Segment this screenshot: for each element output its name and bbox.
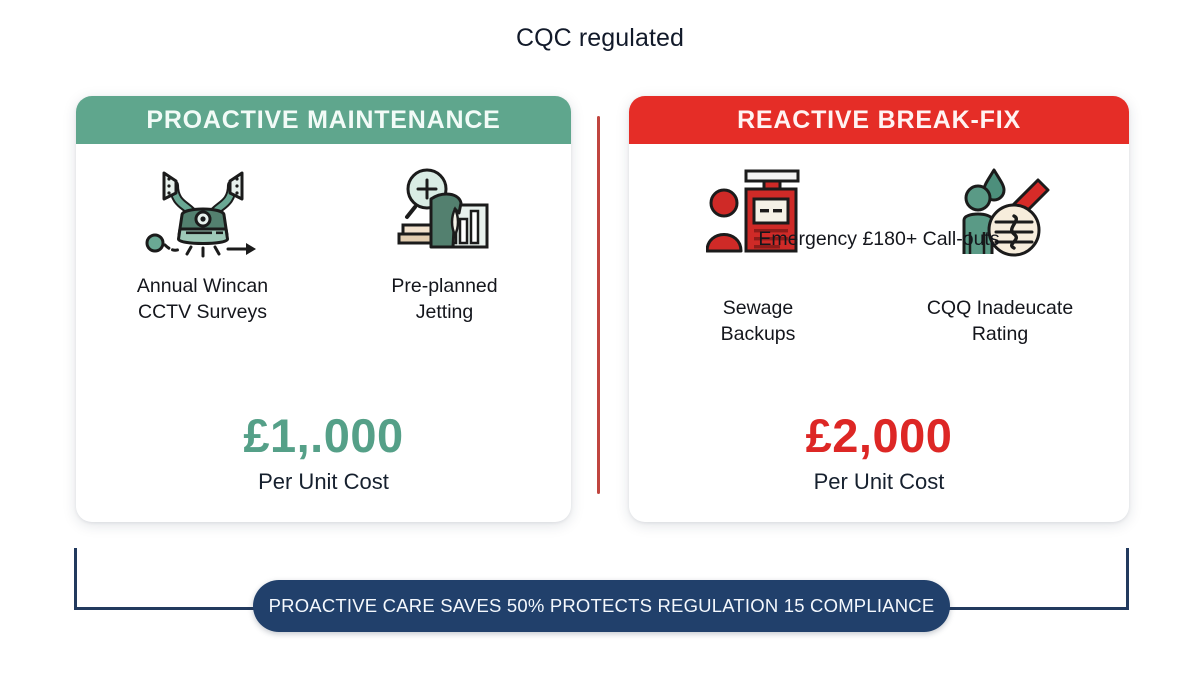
vertical-divider [597,116,600,494]
card-body-proactive: Annual Wincan CCTV Surveys [76,144,571,522]
feature-cqq-inadequate-rating: CQQ Inadeucate Rating [902,162,1098,347]
price-reactive: £2,000 [629,412,1129,459]
feature-sewage-backups: Sewage Backups [660,162,856,347]
feature-label-cqq-inadequate-rating: CQQ Inadeucate Rating [927,296,1073,347]
feature-label-annual-wincan-cctv-surveys: Annual Wincan CCTV Surveys [137,274,268,325]
page-title: CQC regulated [0,24,1200,53]
feature-annual-wincan-cctv-surveys: Annual Wincan CCTV Surveys [105,162,301,325]
feature-row-proactive: Annual Wincan CCTV Surveys [76,144,571,325]
sewage-backup-person-icon [706,162,810,260]
price-block-reactive: £2,000 Per Unit Cost [629,412,1129,495]
price-proactive: £1,.000 [76,412,571,459]
summary-banner: PROACTIVE CARE SAVES 50% PROTECTS REGULA… [253,580,950,632]
summary-banner-text: PROACTIVE CARE SAVES 50% PROTECTS REGULA… [269,595,935,617]
price-block-proactive: £1,.000 Per Unit Cost [76,412,571,495]
cctv-crawler-robot-icon [144,162,262,260]
feature-pre-planned-jetting: Pre-planned Jetting [347,162,543,325]
inadequate-rating-badge-icon [948,162,1052,260]
card-reactive-break-fix: REACTIVE BREAK-FIX [629,96,1129,522]
card-header-proactive-label: PROACTIVE MAINTENANCE [146,106,500,135]
card-header-reactive-label: REACTIVE BREAK-FIX [737,106,1021,135]
feature-row-reactive: Sewage Backups [629,144,1129,347]
bracket-right-stem [1126,548,1129,610]
card-proactive-maintenance: PROACTIVE MAINTENANCE [76,96,571,522]
feature-label-sewage-backups: Sewage Backups [721,296,796,347]
price-sub-proactive: Per Unit Cost [76,469,571,495]
jetting-inspection-chart-icon [397,162,493,260]
card-header-reactive: REACTIVE BREAK-FIX [629,96,1129,144]
price-sub-reactive: Per Unit Cost [629,469,1129,495]
card-header-proactive: PROACTIVE MAINTENANCE [76,96,571,144]
infographic-canvas: CQC regulated PROACTIVE MAINTENANCE [0,0,1200,675]
card-body-reactive: Sewage Backups [629,144,1129,522]
feature-label-pre-planned-jetting: Pre-planned Jetting [391,274,497,325]
bracket-left-stem [74,548,77,610]
